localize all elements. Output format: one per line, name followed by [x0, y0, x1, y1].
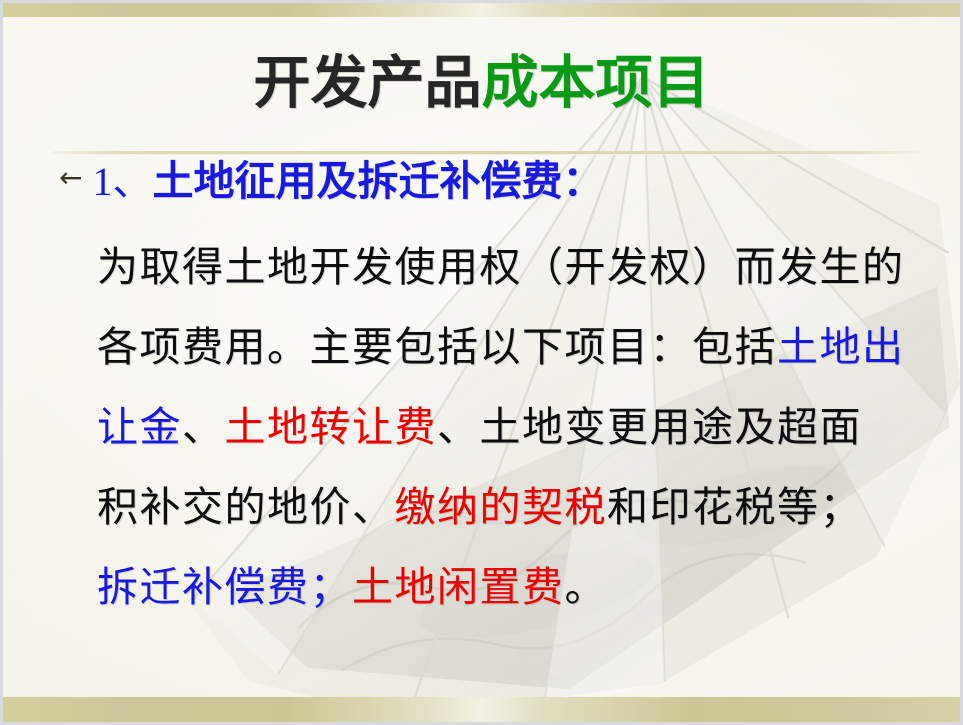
text-run: 积补交的地价、 — [97, 484, 395, 530]
bottom-accent-bar — [3, 697, 960, 722]
text-run-highlight-red: 缴纳的契税 — [395, 484, 608, 530]
text-run-highlight-red: 土地转让费 — [225, 404, 438, 450]
text-run-highlight-red: 土地闲置费 — [352, 564, 565, 610]
body-line-1: 为取得土地开发使用权（开发权）而发生的 — [97, 247, 905, 288]
slide-canvas: 开发产品成本项目 ←1、土地征用及拆迁补偿费： 为取得土地开发使用权（开发权）而… — [3, 3, 960, 722]
body-line-5: 拆迁补偿费；土地闲置费。 — [97, 567, 607, 608]
heading-number: 1、 — [92, 159, 152, 204]
text-run-highlight-blue: 拆迁补偿费； — [97, 564, 352, 610]
text-run: 、 — [182, 404, 225, 450]
text-run: 。 — [565, 564, 608, 610]
top-accent-bar — [3, 3, 960, 17]
text-run: 和印花税等； — [607, 484, 862, 530]
page-title: 开发产品成本项目 — [3, 55, 960, 112]
text-run: 、土地变更用途及超面 — [437, 404, 862, 450]
text-run: 各项费用。主要包括以下项目：包括 — [97, 324, 777, 370]
title-part-black: 开发产品 — [254, 50, 482, 116]
text-run-highlight-blue: 土地出 — [777, 324, 905, 370]
body-line-3: 让金、土地转让费、土地变更用途及超面 — [97, 407, 862, 448]
left-arrow-icon: ← — [59, 161, 82, 194]
body-line-4: 积补交的地价、缴纳的契税和印花税等； — [97, 487, 862, 528]
heading-text: 土地征用及拆迁补偿费： — [152, 157, 603, 205]
slide-content: ←1、土地征用及拆迁补偿费： 为取得土地开发使用权（开发权）而发生的 各项费用。… — [3, 155, 960, 675]
body-line-2: 各项费用。主要包括以下项目：包括土地出 — [97, 327, 905, 368]
bullet-heading: ←1、土地征用及拆迁补偿费： — [59, 161, 603, 202]
text-run: 为取得土地开发使用权（开发权）而发生的 — [97, 244, 905, 290]
title-part-green: 成本项目 — [482, 50, 710, 116]
text-run-highlight-blue: 让金 — [97, 404, 182, 450]
